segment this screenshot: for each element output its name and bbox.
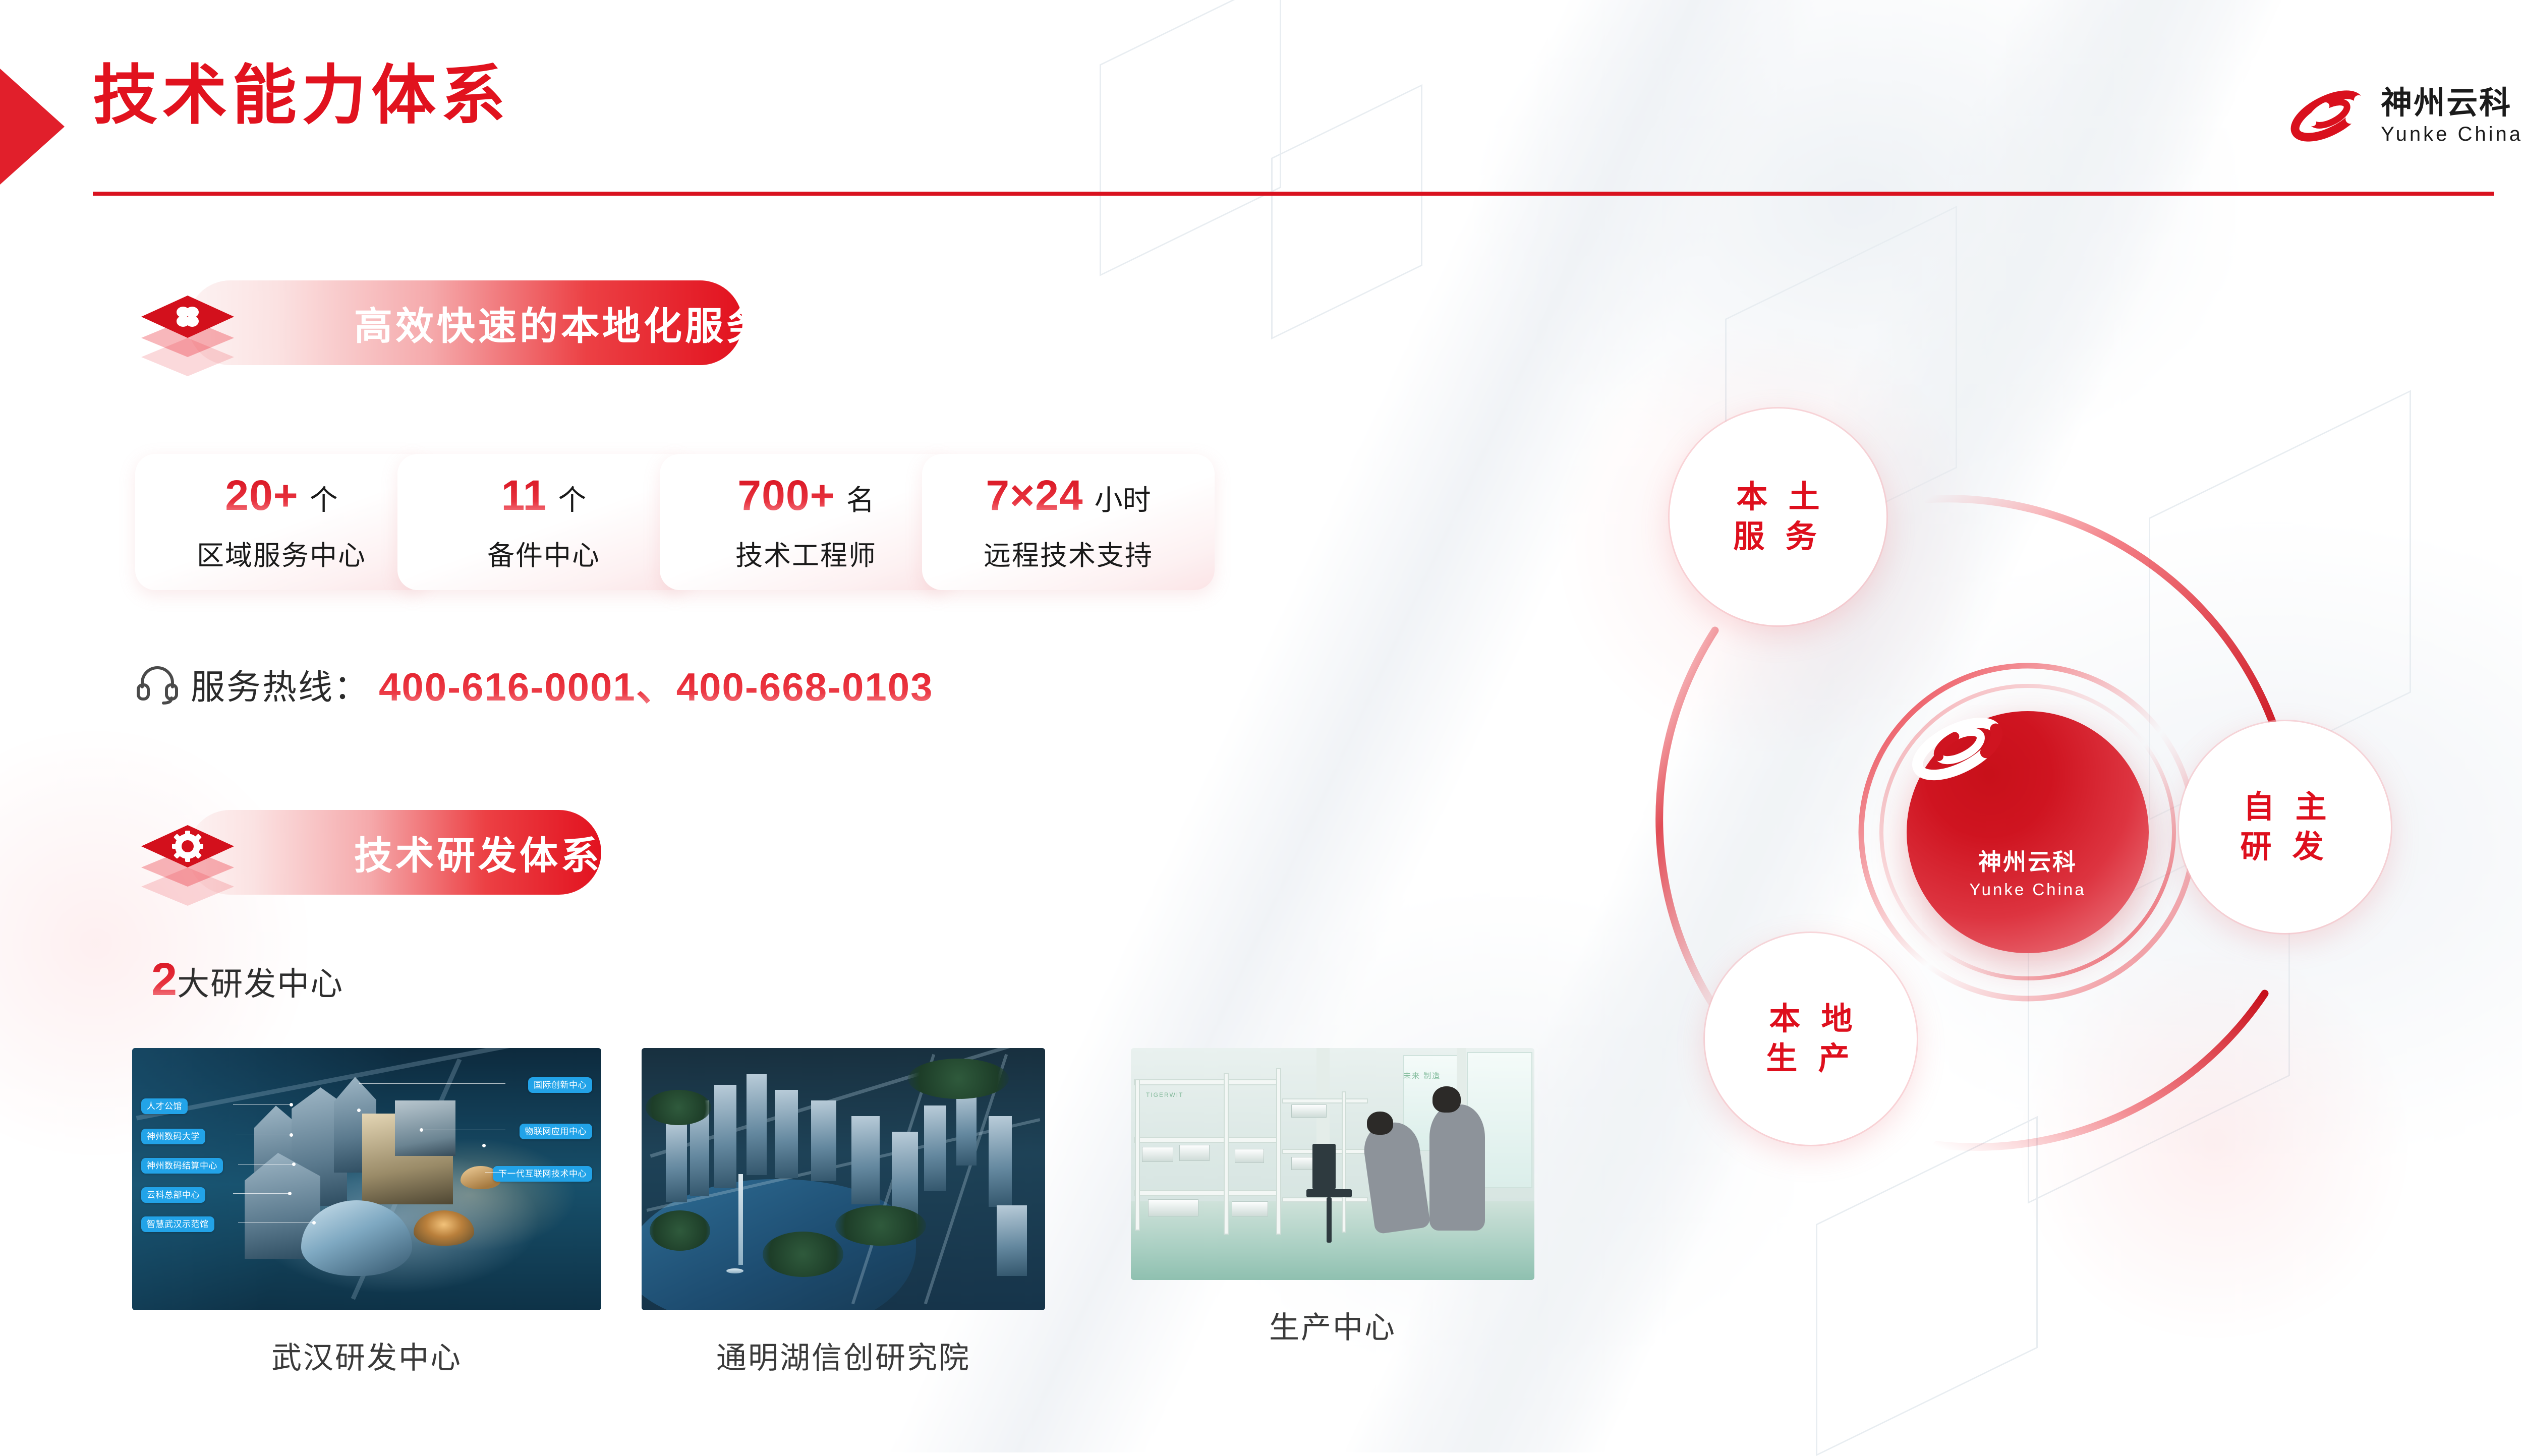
diamond-stack-gear-icon bbox=[91, 797, 242, 913]
photo-callout: 人才公馆 bbox=[141, 1098, 188, 1114]
hotline-label: 服务热线： bbox=[191, 659, 370, 709]
rd-photo-row: 人才公馆 神州数码大学 神州数码结算中心 云科总部中心 智慧武汉示范馆 国际创新… bbox=[132, 1048, 1534, 1377]
stat-label: 远程技术支持 bbox=[984, 533, 1153, 573]
stat-unit: 个 bbox=[558, 478, 586, 518]
diagram-node-local-production[interactable]: 本 地 生 产 bbox=[1705, 933, 1917, 1145]
stat-label: 区域服务中心 bbox=[197, 533, 366, 573]
wuhan-rd-campus-image: 人才公馆 神州数码大学 神州数码结算中心 云科总部中心 智慧武汉示范馆 国际创新… bbox=[132, 1048, 601, 1310]
photo-callout: 下一代互联网技术中心 bbox=[493, 1166, 592, 1182]
tongminghu-aerial-image bbox=[642, 1048, 1045, 1310]
page-title: 技术能力体系 bbox=[93, 56, 510, 135]
section-pill: 技术研发体系 bbox=[188, 810, 601, 895]
stat-value: 11 bbox=[501, 471, 547, 520]
headset-icon bbox=[135, 662, 180, 706]
rd-photo-item: 人才公馆 神州数码大学 神州数码结算中心 云科总部中心 智慧武汉示范馆 国际创新… bbox=[132, 1048, 601, 1377]
yunke-swirl-icon bbox=[1977, 765, 2078, 841]
rd-photo-item: 未来 制造 TIGERWIT 生产中心 bbox=[1131, 1048, 1534, 1347]
hotline-numbers[interactable]: 400-616-0001、400-668-0103 bbox=[379, 656, 934, 712]
stat-value: 20+ bbox=[225, 471, 299, 520]
center-name-cn: 神州云科 bbox=[1978, 844, 2077, 877]
triangle-right-icon bbox=[0, 69, 65, 185]
section-title: 技术研发体系 bbox=[354, 825, 602, 880]
stat-card: 11 个 备件中心 bbox=[397, 454, 690, 590]
rd-center-count: 2 大研发中心 bbox=[151, 953, 343, 1006]
brand-logo: 神州云科 Yunke China bbox=[2287, 86, 2522, 146]
stat-unit: 名 bbox=[846, 478, 875, 518]
stat-unit: 个 bbox=[310, 478, 338, 518]
yunke-swirl-icon bbox=[2287, 86, 2368, 146]
stat-value: 700+ bbox=[737, 471, 835, 520]
stat-label: 技术工程师 bbox=[735, 533, 877, 573]
stat-card: 20+ 个 区域服务中心 bbox=[135, 454, 428, 590]
photo-caption: 通明湖信创研究院 bbox=[716, 1333, 970, 1377]
header-divider bbox=[93, 192, 2494, 196]
service-hotline: 服务热线： 400-616-0001、400-668-0103 bbox=[135, 656, 934, 712]
stat-unit: 小时 bbox=[1095, 478, 1151, 518]
photo-callout: 国际创新中心 bbox=[528, 1077, 592, 1093]
photo-callout: 物联网应用中心 bbox=[520, 1124, 593, 1139]
photo-callout: 神州数码结算中心 bbox=[141, 1158, 223, 1174]
rd-photo-item: 通明湖信创研究院 bbox=[642, 1048, 1045, 1377]
rd-count-suffix: 大研发中心 bbox=[177, 958, 343, 1005]
diagram-center-node: 神州云科 Yunke China bbox=[1907, 711, 2149, 953]
photo-callout: 云科总部中心 bbox=[141, 1187, 205, 1203]
stat-card: 7×24 小时 远程技术支持 bbox=[922, 454, 1215, 590]
center-name-en: Yunke China bbox=[1969, 880, 2086, 899]
stat-card: 700+ 名 技术工程师 bbox=[660, 454, 952, 590]
diagram-node-self-development[interactable]: 自 主 研 发 bbox=[2179, 721, 2391, 933]
diamond-stack-flower-icon bbox=[91, 267, 242, 383]
photo-callout: 智慧武汉示范馆 bbox=[141, 1216, 214, 1232]
section-localized-service: 高效快速的本地化服务 bbox=[91, 267, 747, 383]
brand-name-cn: 神州云科 bbox=[2381, 88, 2522, 119]
stat-label: 备件中心 bbox=[487, 533, 600, 573]
photo-callout: 神州数码大学 bbox=[141, 1129, 205, 1144]
production-center-image: 未来 制造 TIGERWIT bbox=[1131, 1048, 1534, 1280]
section-pill: 高效快速的本地化服务 bbox=[188, 280, 742, 365]
stat-cards-row: 20+ 个 区域服务中心 11 个 备件中心 700+ 名 技术工程师 7×24… bbox=[135, 454, 1184, 590]
photo-caption: 武汉研发中心 bbox=[271, 1333, 462, 1377]
diagram-node-label: 本 土 服 务 bbox=[1730, 477, 1825, 557]
stat-value: 7×24 bbox=[986, 471, 1083, 520]
photo-caption: 生产中心 bbox=[1269, 1303, 1396, 1347]
section-rd-system: 技术研发体系 bbox=[91, 797, 747, 913]
brand-name-en: Yunke China bbox=[2381, 124, 2522, 144]
rd-count-number: 2 bbox=[151, 953, 177, 1006]
section-title: 高效快速的本地化服务 bbox=[354, 295, 768, 351]
diagram-node-local-service[interactable]: 本 土 服 务 bbox=[1670, 409, 1886, 625]
capability-circle-diagram: 神州云科 Yunke China 本 土 服 务 自 主 研 发 本 地 生 产 bbox=[1604, 388, 2512, 1296]
diagram-node-label: 本 地 生 产 bbox=[1763, 999, 1858, 1079]
diagram-node-label: 自 主 研 发 bbox=[2237, 787, 2332, 867]
